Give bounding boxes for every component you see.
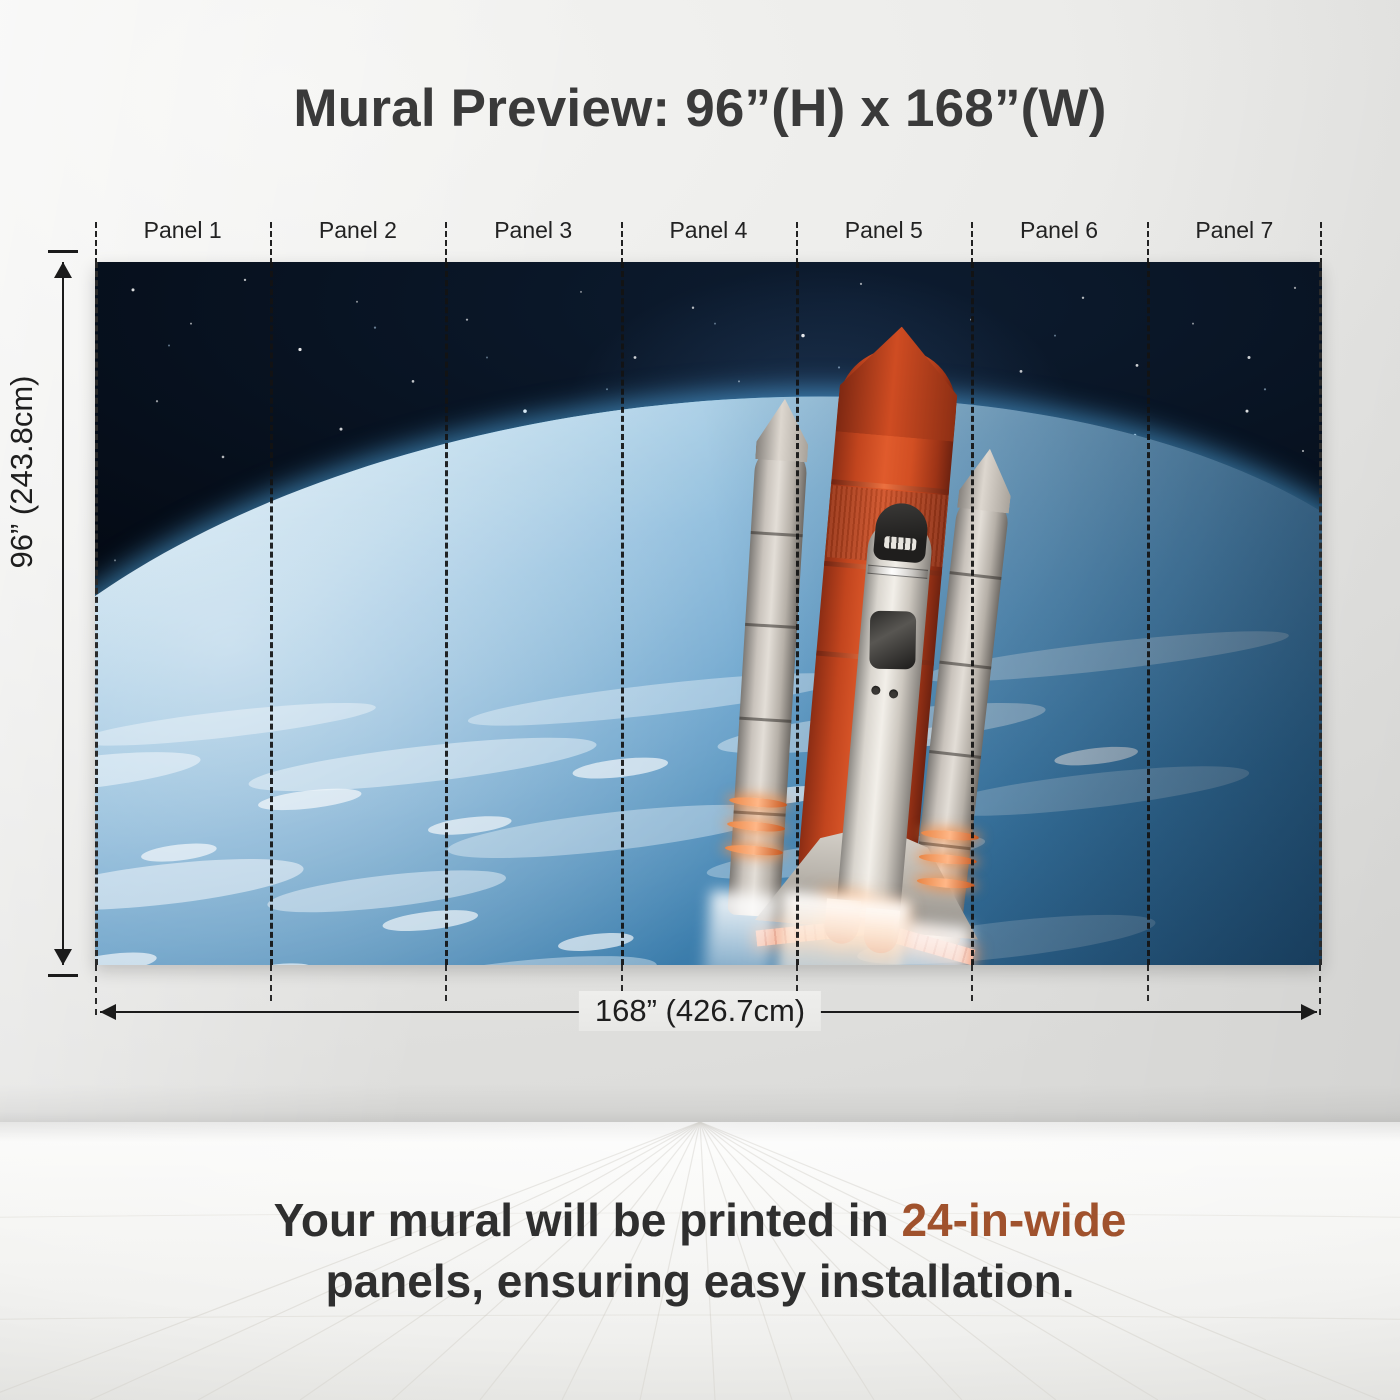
panel-tick-1 [270, 222, 272, 264]
height-dimension-label: 96” (243.8cm) [4, 376, 40, 569]
panel-seam-2 [445, 262, 448, 965]
page-title: Mural Preview: 96”(H) x 168”(W) [0, 78, 1400, 139]
height-dimension-line [62, 262, 64, 965]
mural-left-edge [95, 262, 98, 965]
wall-base-shadow [0, 1084, 1400, 1122]
mural-preview-page: Mural Preview: 96”(H) x 168”(W) Panel 1 … [0, 0, 1400, 1400]
panel-tick-marks [95, 222, 1322, 264]
panel-tick-2 [445, 222, 447, 264]
arrow-down-icon [54, 949, 72, 965]
panel-tick-5 [971, 222, 973, 264]
guide-right-extension [1319, 965, 1321, 1015]
panel-tick-0 [95, 222, 97, 264]
height-tick-bottom [48, 974, 78, 977]
width-dimension-label: 168” (426.7cm) [579, 991, 821, 1031]
panel-seam-3 [621, 262, 624, 965]
guide-seam-1-ext [270, 965, 272, 1001]
guide-seam-5-ext [971, 965, 973, 1001]
mural-image-preview[interactable] [95, 262, 1322, 965]
panel-seam-1 [270, 262, 273, 965]
panel-tick-7 [1320, 222, 1322, 264]
caption-line1-prefix: Your mural will be printed in [274, 1194, 902, 1246]
panel-seam-6 [1147, 262, 1150, 965]
panel-seam-5 [971, 262, 974, 965]
panel-tick-4 [796, 222, 798, 264]
mural-right-edge [1319, 262, 1322, 965]
height-tick-top [48, 250, 78, 253]
arrow-left-icon [100, 1004, 116, 1020]
caption-line2: panels, ensuring easy installation. [325, 1255, 1074, 1307]
arrow-right-icon [1301, 1004, 1317, 1020]
panel-seam-overlay [95, 262, 1322, 965]
guide-seam-6-ext [1147, 965, 1149, 1001]
caption-accent-text: 24-in-wide [901, 1194, 1126, 1246]
panel-seam-4 [796, 262, 799, 965]
guide-left-extension [95, 965, 97, 1015]
panel-tick-6 [1147, 222, 1149, 264]
guide-seam-2-ext [445, 965, 447, 1001]
footer-caption: Your mural will be printed in 24-in-wide… [0, 1190, 1400, 1312]
panel-tick-3 [621, 222, 623, 264]
arrow-up-icon [54, 262, 72, 278]
